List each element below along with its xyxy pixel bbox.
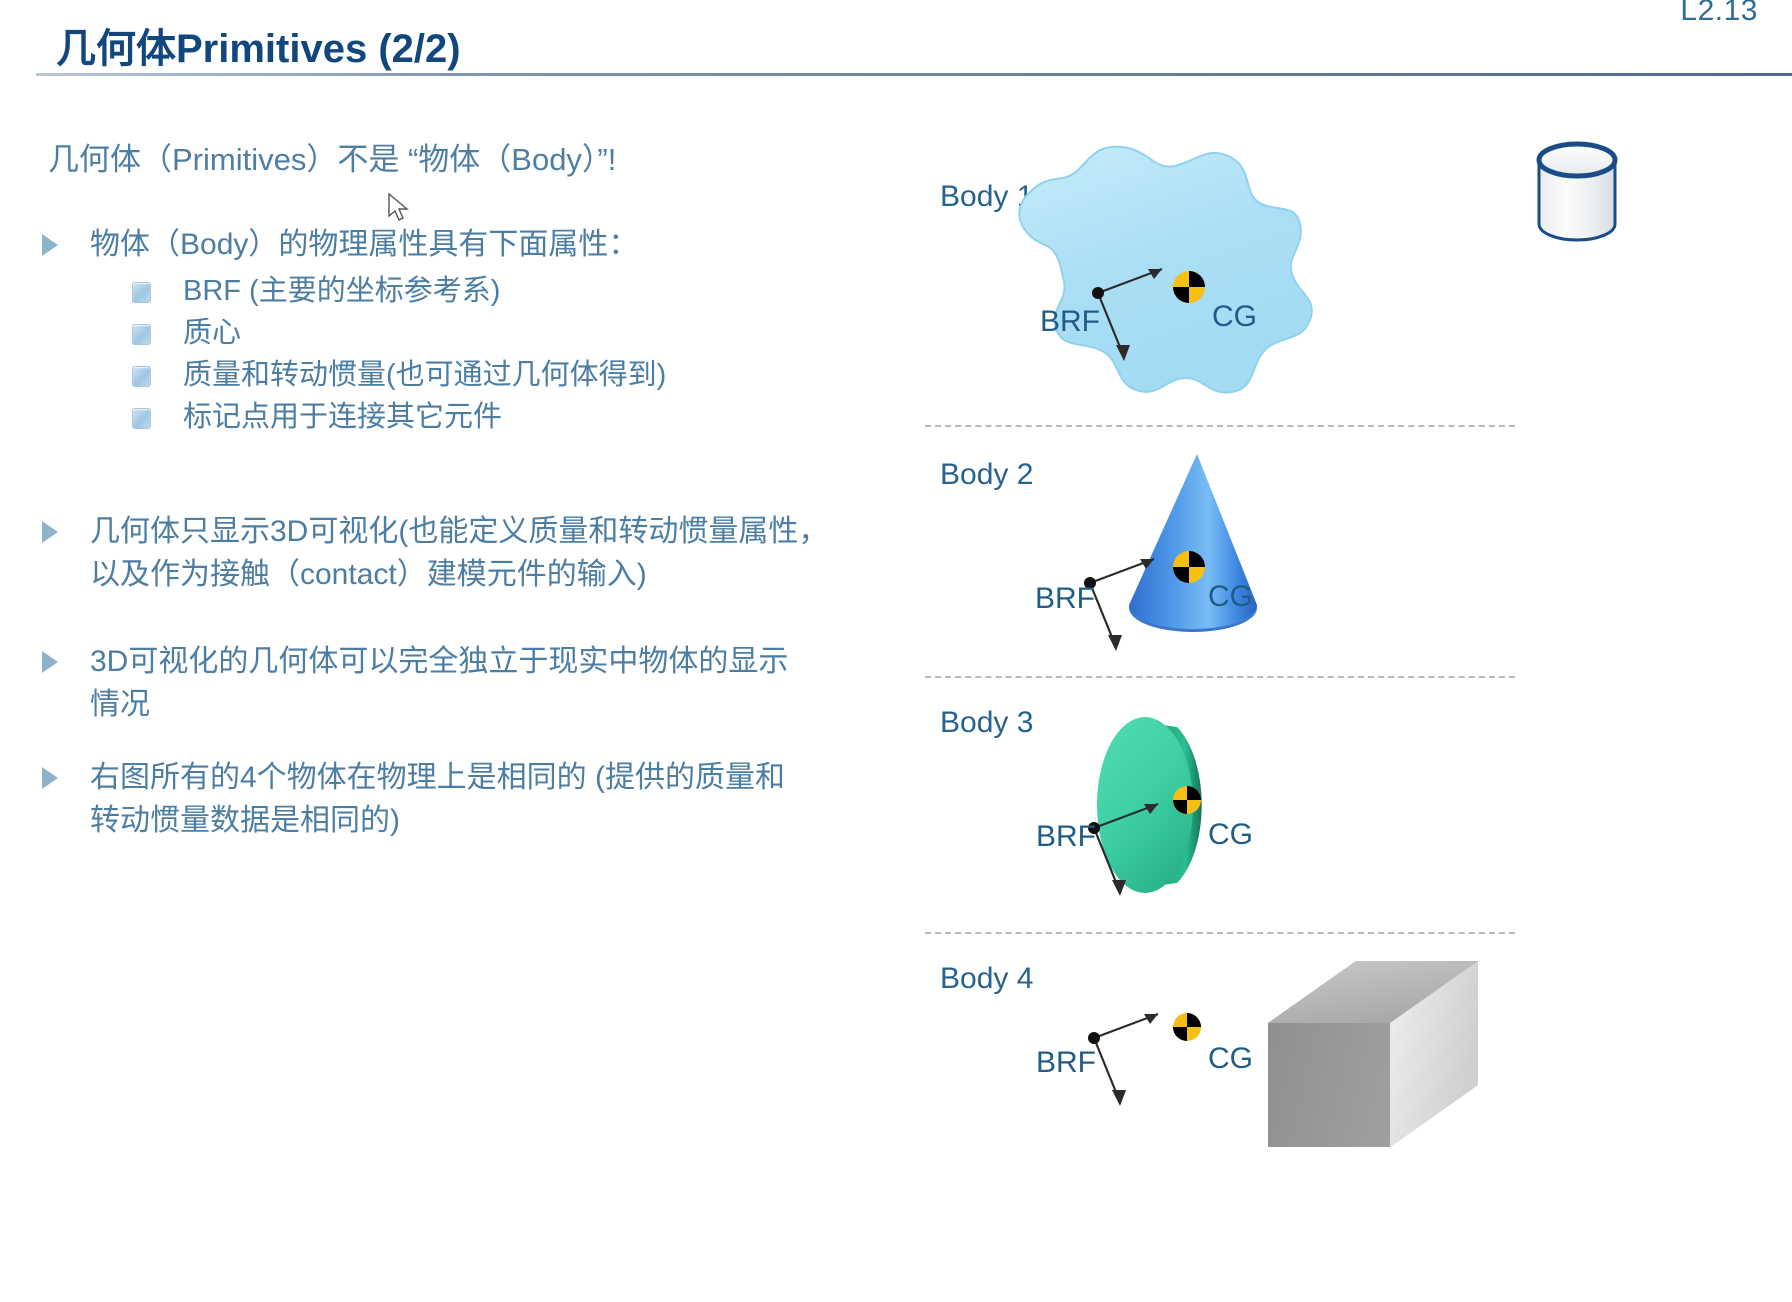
body-3-cg-label: CG xyxy=(1208,818,1253,852)
bullet-item-2: 几何体只显示3D可视化(也能定义质量和转动惯量属性， 以及作为接触（contac… xyxy=(42,510,832,596)
body-4-cg-label: CG xyxy=(1208,1042,1253,1076)
bullet-text-3-line1: 3D可视化的几何体可以完全独立于现实中物体的显示 xyxy=(90,645,788,678)
body-2-cg-label: CG xyxy=(1208,580,1253,614)
sub-text-1-3: 质量和转动惯量(也可通过几何体得到) xyxy=(183,354,666,396)
square-bullet-icon xyxy=(132,408,151,429)
figure-label-body-3: Body 3 xyxy=(940,706,1033,740)
bullet-item-1: 物体（Body）的物理属性具有下面属性： xyxy=(42,223,638,266)
page-title: 几何体Primitives (2/2) xyxy=(56,16,461,74)
body-3-cg-marker-icon xyxy=(1172,785,1202,815)
sub-item-1-3: 质量和转动惯量(也可通过几何体得到) xyxy=(132,354,666,396)
mouse-cursor-icon xyxy=(388,193,410,223)
square-bullet-icon xyxy=(132,366,151,387)
triangle-bullet-icon xyxy=(42,651,58,673)
bullet-item-3: 3D可视化的几何体可以完全独立于现实中物体的显示 情况 xyxy=(42,640,832,726)
body-1-brf-label: BRF xyxy=(1040,305,1100,339)
sub-text-1-4: 标记点用于连接其它元件 xyxy=(183,396,502,438)
body-4-cg-marker-icon xyxy=(1172,1012,1202,1042)
body-2-cg-marker-icon xyxy=(1172,550,1206,584)
bullet-text-2-line2: 以及作为接触（contact）建模元件的输入) xyxy=(90,558,647,591)
bullet-text-3: 3D可视化的几何体可以完全独立于现实中物体的显示 情况 xyxy=(90,640,788,726)
square-bullet-icon xyxy=(132,282,151,303)
square-bullet-icon xyxy=(132,324,151,345)
figure-separator-3 xyxy=(925,932,1515,934)
bullet-text-3-line2: 情况 xyxy=(90,688,150,721)
body-4-cube-shape xyxy=(1260,955,1490,1155)
bullet-text-2-line1: 几何体只显示3D可视化(也能定义质量和转动惯量属性， xyxy=(90,515,828,548)
sub-text-1-2: 质心 xyxy=(183,312,241,354)
body-4-brf-label: BRF xyxy=(1036,1046,1096,1080)
figure-separator-2 xyxy=(925,676,1515,678)
figure-label-body-2: Body 2 xyxy=(940,458,1033,492)
figure-label-body-4: Body 4 xyxy=(940,962,1033,996)
bullet-item-4: 右图所有的4个物体在物理上是相同的 (提供的质量和 转动惯量数据是相同的) xyxy=(42,756,832,842)
bullet-text-4-line1: 右图所有的4个物体在物理上是相同的 (提供的质量和 xyxy=(90,761,785,794)
body-1-cg-marker-icon xyxy=(1172,270,1206,304)
body-2-brf-label: BRF xyxy=(1035,582,1095,616)
body-3-brf-label: BRF xyxy=(1036,820,1096,854)
body-1-cg-label: CG xyxy=(1212,300,1257,334)
cylinder-shape-icon xyxy=(1532,138,1632,248)
figures-panel: Body 1 BRF CG xyxy=(900,0,1792,1302)
bullet-text-1: 物体（Body）的物理属性具有下面属性： xyxy=(90,223,638,266)
figure-separator-1 xyxy=(925,425,1515,427)
bullet-text-4: 右图所有的4个物体在物理上是相同的 (提供的质量和 转动惯量数据是相同的) xyxy=(90,756,785,842)
sub-item-1-1: BRF (主要的坐标参考系) xyxy=(132,270,500,312)
triangle-bullet-icon xyxy=(42,767,58,789)
body-1-brf-axes-icon xyxy=(1090,265,1230,385)
triangle-bullet-icon xyxy=(42,521,58,543)
bullet-text-4-line2: 转动惯量数据是相同的) xyxy=(90,804,400,837)
sub-item-1-2: 质心 xyxy=(132,312,241,354)
body-4-brf-axes-icon xyxy=(1086,1010,1226,1130)
body-3-brf-axes-icon xyxy=(1086,800,1226,920)
sub-text-1-1: BRF (主要的坐标参考系) xyxy=(183,270,500,312)
sub-item-1-4: 标记点用于连接其它元件 xyxy=(132,396,502,438)
lead-statement: 几何体（Primitives）不是 “物体（Body）”! xyxy=(48,134,616,179)
bullet-text-2: 几何体只显示3D可视化(也能定义质量和转动惯量属性， 以及作为接触（contac… xyxy=(90,510,828,596)
triangle-bullet-icon xyxy=(42,234,58,256)
